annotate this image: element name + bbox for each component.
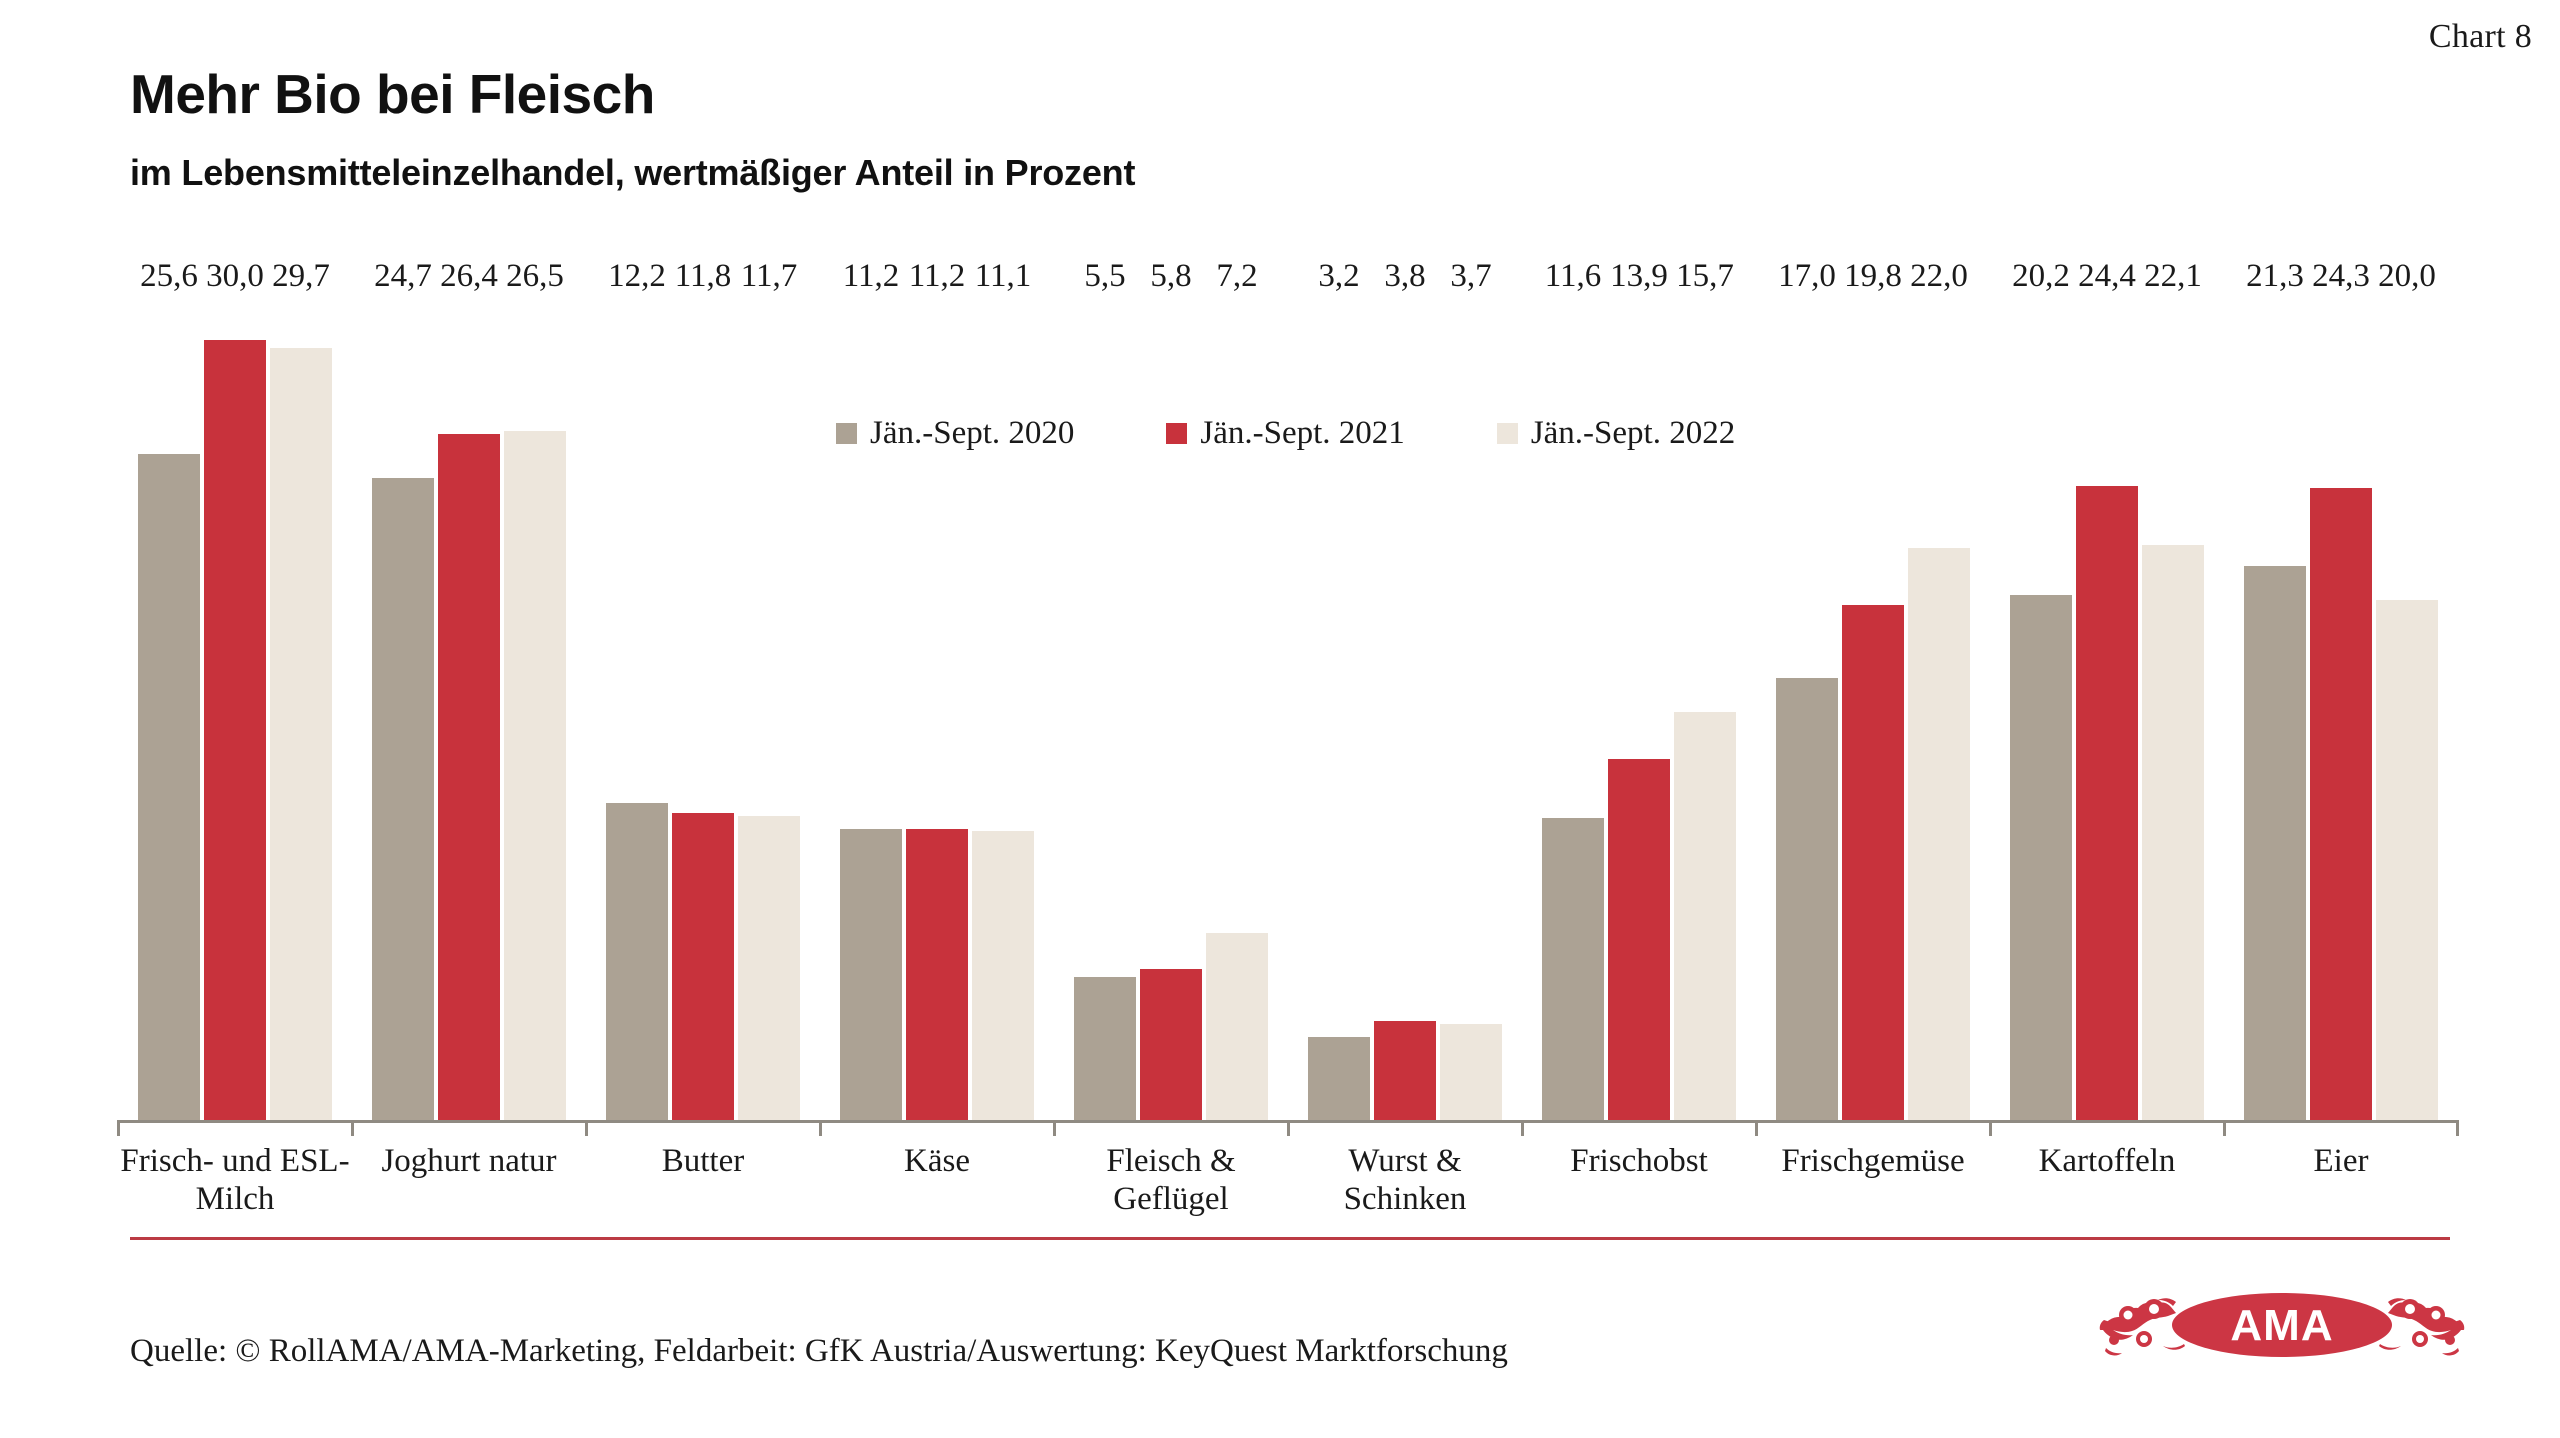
x-axis-tick bbox=[1990, 1120, 2224, 1136]
bar-column: 13,9 bbox=[1608, 300, 1670, 1120]
bar[interactable]: 30,0 bbox=[204, 340, 266, 1120]
bar[interactable]: 24,4 bbox=[2076, 486, 2138, 1120]
bar-column: 30,0 bbox=[204, 300, 266, 1120]
footer-divider bbox=[130, 1237, 2450, 1240]
bar-column: 26,5 bbox=[504, 300, 566, 1120]
bar[interactable]: 11,7 bbox=[738, 816, 800, 1120]
bar-group-bars: 11,211,211,1 bbox=[820, 300, 1054, 1120]
x-axis-category-label: Frischgemüse bbox=[1756, 1142, 1990, 1218]
bar-group: 5,55,87,2 bbox=[1054, 300, 1288, 1120]
ama-logo: AMA bbox=[2092, 1282, 2472, 1378]
bar-value-label: 7,2 bbox=[1216, 258, 1257, 295]
bar[interactable]: 21,3 bbox=[2244, 566, 2306, 1120]
bar-value-label: 30,0 bbox=[206, 258, 264, 295]
bar-column: 17,0 bbox=[1776, 300, 1838, 1120]
bar-value-label: 3,7 bbox=[1450, 258, 1491, 295]
bar-group: 20,224,422,1 bbox=[1990, 300, 2224, 1120]
bar[interactable]: 25,6 bbox=[138, 454, 200, 1120]
bar-column: 11,2 bbox=[906, 300, 968, 1120]
bar[interactable]: 3,7 bbox=[1440, 1024, 1502, 1120]
bar-group: 12,211,811,7 bbox=[586, 300, 820, 1120]
bar-group: 11,613,915,7 bbox=[1522, 300, 1756, 1120]
bar-group-bars: 24,726,426,5 bbox=[352, 300, 586, 1120]
x-axis-ticks bbox=[118, 1120, 2458, 1136]
bar[interactable]: 11,2 bbox=[906, 829, 968, 1120]
bar-column: 5,5 bbox=[1074, 300, 1136, 1120]
bar-group-bars: 5,55,87,2 bbox=[1054, 300, 1288, 1120]
bar-column: 12,2 bbox=[606, 300, 668, 1120]
bar-value-label: 11,8 bbox=[675, 258, 732, 295]
x-axis-category-label: Wurst &Schinken bbox=[1288, 1142, 1522, 1218]
bar[interactable]: 11,2 bbox=[840, 829, 902, 1120]
bar-group-bars: 20,224,422,1 bbox=[1990, 300, 2224, 1120]
bar-group: 3,23,83,7 bbox=[1288, 300, 1522, 1120]
x-axis-category-label: Eier bbox=[2224, 1142, 2458, 1218]
bar-column: 20,0 bbox=[2376, 300, 2438, 1120]
bar-column: 19,8 bbox=[1842, 300, 1904, 1120]
bar-column: 25,6 bbox=[138, 300, 200, 1120]
bar[interactable]: 20,2 bbox=[2010, 595, 2072, 1120]
page-subtitle: im Lebensmitteleinzelhandel, wertmäßiger… bbox=[130, 152, 1135, 194]
bar[interactable]: 11,6 bbox=[1542, 818, 1604, 1120]
bar-group: 17,019,822,0 bbox=[1756, 300, 1990, 1120]
bar[interactable]: 29,7 bbox=[270, 348, 332, 1120]
bar-group: 25,630,029,7 bbox=[118, 300, 352, 1120]
bar-value-label: 17,0 bbox=[1778, 258, 1836, 295]
bar-value-label: 12,2 bbox=[608, 258, 666, 295]
x-axis-category-label: Fleisch &Geflügel bbox=[1054, 1142, 1288, 1218]
bar-value-label: 25,6 bbox=[140, 258, 198, 295]
bar[interactable]: 26,4 bbox=[438, 434, 500, 1120]
bar-value-label: 20,2 bbox=[2012, 258, 2070, 295]
source-note: Quelle: © RollAMA/AMA-Marketing, Feldarb… bbox=[130, 1333, 1508, 1370]
bar-value-label: 13,9 bbox=[1610, 258, 1668, 295]
bar-group: 21,324,320,0 bbox=[2224, 300, 2458, 1120]
bar-value-label: 11,6 bbox=[1545, 258, 1602, 295]
bar[interactable]: 22,0 bbox=[1908, 548, 1970, 1120]
bar-value-label: 11,2 bbox=[843, 258, 900, 295]
x-axis-tick bbox=[1522, 1120, 1756, 1136]
bar-value-label: 26,5 bbox=[506, 258, 564, 295]
x-axis-tick bbox=[586, 1120, 820, 1136]
ama-logo-text: AMA bbox=[2230, 1301, 2333, 1350]
x-axis-category-label: Kartoffeln bbox=[1990, 1142, 2224, 1218]
bar-column: 11,2 bbox=[840, 300, 902, 1120]
bar-value-label: 21,3 bbox=[2246, 258, 2304, 295]
bar-column: 7,2 bbox=[1206, 300, 1268, 1120]
bar-column: 11,8 bbox=[672, 300, 734, 1120]
bar-value-label: 15,7 bbox=[1676, 258, 1734, 295]
bar-value-label: 5,5 bbox=[1084, 258, 1125, 295]
bar-value-label: 3,2 bbox=[1318, 258, 1359, 295]
x-axis-tick bbox=[1054, 1120, 1288, 1136]
x-axis-tick bbox=[118, 1120, 352, 1136]
bar-group: 11,211,211,1 bbox=[820, 300, 1054, 1120]
chart-number: Chart 8 bbox=[2429, 18, 2532, 56]
bar[interactable]: 22,1 bbox=[2142, 545, 2204, 1120]
x-axis-tick bbox=[1288, 1120, 1522, 1136]
bar[interactable]: 17,0 bbox=[1776, 678, 1838, 1120]
bar-column: 3,8 bbox=[1374, 300, 1436, 1120]
x-axis-category-label: Frisch- und ESL-Milch bbox=[118, 1142, 352, 1218]
bar[interactable]: 19,8 bbox=[1842, 605, 1904, 1120]
bar[interactable]: 11,1 bbox=[972, 831, 1034, 1120]
bar[interactable]: 26,5 bbox=[504, 431, 566, 1120]
bar-column: 22,1 bbox=[2142, 300, 2204, 1120]
bar-column: 24,4 bbox=[2076, 300, 2138, 1120]
chart-plot-area: 25,630,029,724,726,426,512,211,811,711,2… bbox=[118, 300, 2458, 1120]
bar-value-label: 11,2 bbox=[909, 258, 966, 295]
bar[interactable]: 3,2 bbox=[1308, 1037, 1370, 1120]
bar-column: 11,1 bbox=[972, 300, 1034, 1120]
bar-column: 21,3 bbox=[2244, 300, 2306, 1120]
bar-column: 26,4 bbox=[438, 300, 500, 1120]
bar-column: 20,2 bbox=[2010, 300, 2072, 1120]
bar-value-label: 11,1 bbox=[975, 258, 1032, 295]
bar-column: 3,2 bbox=[1308, 300, 1370, 1120]
bar-value-label: 11,7 bbox=[741, 258, 798, 295]
bar-column: 11,7 bbox=[738, 300, 800, 1120]
bar-column: 24,3 bbox=[2310, 300, 2372, 1120]
bar[interactable]: 11,8 bbox=[672, 813, 734, 1120]
bar-group-bars: 25,630,029,7 bbox=[118, 300, 352, 1120]
bar-group-bars: 12,211,811,7 bbox=[586, 300, 820, 1120]
bar-column: 3,7 bbox=[1440, 300, 1502, 1120]
bar-value-label: 3,8 bbox=[1384, 258, 1425, 295]
bar-column: 24,7 bbox=[372, 300, 434, 1120]
bar-column: 15,7 bbox=[1674, 300, 1736, 1120]
bar-value-label: 24,7 bbox=[374, 258, 432, 295]
x-axis-category-labels: Frisch- und ESL-MilchJoghurt naturButter… bbox=[118, 1142, 2458, 1218]
bar-column: 29,7 bbox=[270, 300, 332, 1120]
bar-groups: 25,630,029,724,726,426,512,211,811,711,2… bbox=[118, 300, 2458, 1120]
x-axis-tick bbox=[820, 1120, 1054, 1136]
bar-value-label: 5,8 bbox=[1150, 258, 1191, 295]
x-axis-tick bbox=[2224, 1120, 2458, 1136]
bar-column: 5,8 bbox=[1140, 300, 1202, 1120]
bar-value-label: 29,7 bbox=[272, 258, 330, 295]
bar[interactable]: 5,8 bbox=[1140, 969, 1202, 1120]
bar-group-bars: 3,23,83,7 bbox=[1288, 300, 1522, 1120]
bar[interactable]: 7,2 bbox=[1206, 933, 1268, 1120]
bar-group-bars: 17,019,822,0 bbox=[1756, 300, 1990, 1120]
bar[interactable]: 5,5 bbox=[1074, 977, 1136, 1120]
bar-value-label: 19,8 bbox=[1844, 258, 1902, 295]
bar[interactable]: 20,0 bbox=[2376, 600, 2438, 1120]
bar[interactable]: 3,8 bbox=[1374, 1021, 1436, 1120]
bar-column: 11,6 bbox=[1542, 300, 1604, 1120]
bar-value-label: 22,1 bbox=[2144, 258, 2202, 295]
x-axis-tick bbox=[1756, 1120, 1990, 1136]
bar-value-label: 20,0 bbox=[2378, 258, 2436, 295]
page-title: Mehr Bio bei Fleisch bbox=[130, 62, 655, 126]
bar[interactable]: 24,3 bbox=[2310, 488, 2372, 1120]
x-axis-category-label: Butter bbox=[586, 1142, 820, 1218]
bar-group-bars: 11,613,915,7 bbox=[1522, 300, 1756, 1120]
bar-value-label: 24,4 bbox=[2078, 258, 2136, 295]
x-axis-category-label: Frischobst bbox=[1522, 1142, 1756, 1218]
bar[interactable]: 24,7 bbox=[372, 478, 434, 1120]
bar[interactable]: 15,7 bbox=[1674, 712, 1736, 1120]
bar[interactable]: 12,2 bbox=[606, 803, 668, 1120]
bar-group-bars: 21,324,320,0 bbox=[2224, 300, 2458, 1120]
x-axis-tick bbox=[352, 1120, 586, 1136]
x-axis-category-label: Käse bbox=[820, 1142, 1054, 1218]
x-axis-category-label: Joghurt natur bbox=[352, 1142, 586, 1218]
bar-column: 22,0 bbox=[1908, 300, 1970, 1120]
bar-value-label: 24,3 bbox=[2312, 258, 2370, 295]
bar-group: 24,726,426,5 bbox=[352, 300, 586, 1120]
bar-value-label: 22,0 bbox=[1910, 258, 1968, 295]
bar[interactable]: 13,9 bbox=[1608, 759, 1670, 1120]
chart-page: Chart 8 Mehr Bio bei Fleisch im Lebensmi… bbox=[0, 0, 2560, 1438]
bar-value-label: 26,4 bbox=[440, 258, 498, 295]
